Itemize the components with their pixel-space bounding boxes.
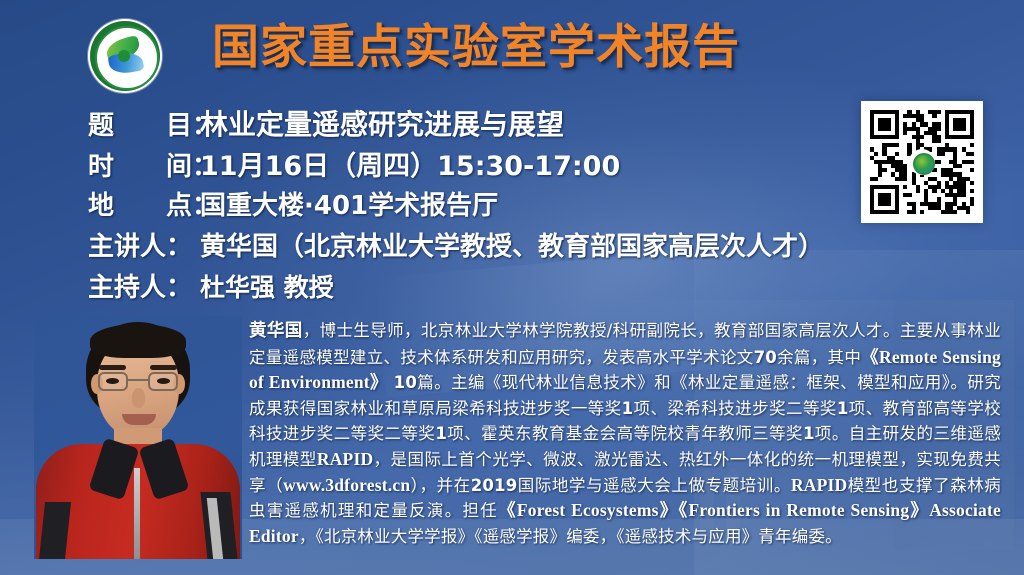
bio-text-10: 国际地学与遥感大会上做专题培训。 — [517, 476, 791, 495]
bio-text-12: ，《北京林业大学学报》《遥感学报》编委，《遥感技术与应用》青年编委。 — [299, 527, 842, 546]
bio-model-name: RAPID — [317, 449, 373, 469]
info-value-speaker: 黄华国（北京林业大学教授、教育部国家高层次人才） — [200, 226, 824, 263]
info-row-place: 地 点： 国重大楼·401学术报告厅 — [88, 185, 908, 226]
bio-award-4: 1 — [803, 424, 815, 443]
page-title: 国家重点实验室学术报告 — [212, 17, 902, 79]
info-row-time: 时 间： 11月16日（周四）15:30-17:00 — [88, 144, 908, 185]
qr-center-logo-icon — [909, 149, 935, 175]
bio-text-9: ），并在 — [410, 476, 470, 495]
bio-rse-count: 10 — [394, 373, 417, 392]
bio-model-name-2: RAPID — [791, 475, 847, 495]
info-label-place: 地 点： — [88, 185, 200, 222]
bio-papers-count: 70 — [754, 348, 777, 367]
info-value-place: 国重大楼·401学术报告厅 — [200, 185, 498, 222]
event-info-list: 题 目： 林业定量遥感研究进展与展望 时 间： 11月16日（周四）15:30-… — [88, 103, 908, 308]
state-key-lab-logo-icon — [88, 19, 162, 93]
speaker-portrait — [34, 316, 242, 559]
info-row-title: 题 目： 林业定量遥感研究进展与展望 — [88, 103, 908, 144]
info-value-host: 杜华强 教授 — [200, 268, 334, 304]
info-value-time: 11月16日（周四）15:30-17:00 — [200, 144, 620, 183]
bio-year: 2019 — [471, 476, 518, 495]
info-label-host: 主持人： — [88, 267, 200, 304]
info-label-title: 题 目： — [88, 105, 200, 142]
poster-header: 国家重点实验室学术报告 — [0, 0, 1024, 96]
bio-website: www.3dforest.cn — [283, 475, 410, 495]
bio-journal-forest-ecosystems: 《Forest Ecosystems》 — [498, 500, 678, 520]
bio-journal-frontiers: 《Frontiers in Remote Sensing》 — [679, 500, 930, 520]
bio-speaker-name: 黄华国 — [249, 321, 303, 341]
bio-text-2: 余篇，其中 — [777, 348, 861, 367]
bio-award-2: 1 — [837, 399, 849, 418]
bio-text-4: 项、梁希科技进步奖二等奖 — [633, 399, 837, 418]
poster-root: 国家重点实验室学术报告 题 目： 林业定量遥感研究进展与展望 时 间： 11月1… — [0, 0, 1024, 575]
qr-code[interactable] — [861, 101, 983, 223]
info-row-host: 主持人： 杜华强 教授 — [88, 267, 908, 308]
info-label-time: 时 间： — [88, 146, 200, 183]
speaker-biography: 黄华国，博士生导师，北京林业大学林学院教授/科研副院长，教育部国家高层次人才。主… — [249, 318, 1001, 549]
bio-text-6: 项、霍英东教育基金会高等院校青年教师三等奖 — [447, 424, 803, 443]
info-row-speaker: 主讲人： 黄华国（北京林业大学教授、教育部国家高层次人才） — [88, 226, 908, 267]
info-label-speaker: 主讲人： — [88, 226, 200, 263]
bio-award-1: 1 — [622, 399, 634, 418]
info-value-title: 林业定量遥感研究进展与展望 — [200, 103, 564, 143]
bio-award-3: 1 — [435, 424, 447, 443]
